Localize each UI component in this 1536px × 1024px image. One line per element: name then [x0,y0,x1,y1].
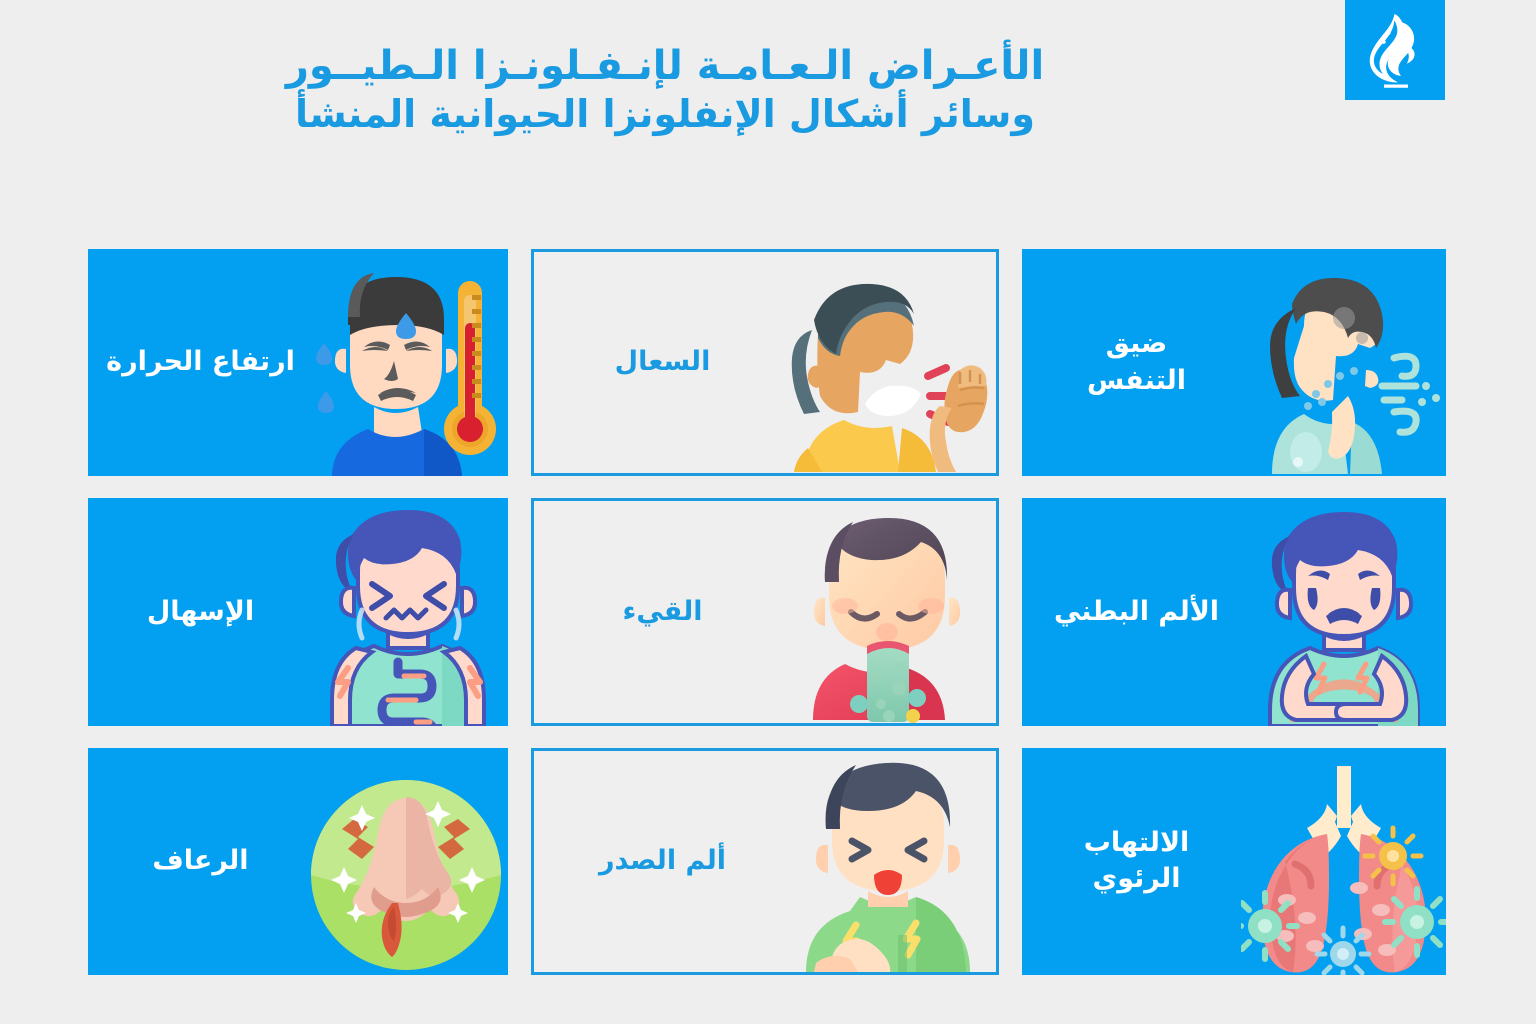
symptom-label: ألم الصدر [534,843,781,879]
symptom-label: السعال [534,344,781,380]
boy-vomiting-icon [781,501,996,722]
title-line-1: الأعـراض الـعـامـة لإنـفـلونـزا الـطيــو… [0,42,1330,91]
symptom-label-line-2: التنفس [1032,363,1241,399]
symptom-card-chest-pain[interactable]: ألم الصدر [531,748,999,975]
man-breathing-difficulty-icon [1241,249,1446,476]
symptom-label: ارتفاع الحرارة [88,344,303,380]
symptom-label: القيء [534,594,781,630]
symptom-label-line-1: السعال [544,344,781,380]
symptom-label: الإسهال [88,594,303,630]
symptom-label-line-1: الألم البطني [1032,594,1241,630]
boy-abdominal-pain-icon [1241,498,1446,725]
symptom-label: الرعاف [88,843,303,879]
symptom-card-pneumonia[interactable]: الالتهاب الرئوي [1022,748,1446,975]
symptom-label-line-1: ضيق [1032,326,1241,362]
symptom-label-line-1: القيء [544,594,781,630]
symptom-label-line-1: الرعاف [98,843,303,879]
page-title: الأعـراض الـعـامـة لإنـفـلونـزا الـطيــو… [0,42,1330,137]
al-jazeera-logo [1345,0,1445,100]
title-line-2: وسائر أشكال الإنفلونزا الحيوانية المنشأ [0,91,1330,137]
virus-particle [1317,928,1369,975]
symptom-label: ضيق التنفس [1022,326,1241,399]
symptom-label-line-1: ألم الصدر [544,843,781,879]
symptom-label: الالتهاب الرئوي [1022,825,1241,898]
virus-particle [1385,889,1446,955]
symptom-card-cough[interactable]: السعال [531,249,999,476]
symptom-card-grid: ضيق التنفس [88,249,1446,975]
symptom-card-diarrhea[interactable]: الإسهال [88,498,508,725]
man-fever-thermometer-icon [303,249,508,476]
boy-intestines-diarrhea-icon [303,498,508,725]
symptom-card-vomiting[interactable]: القيء [531,498,999,725]
boy-chest-pain-icon [781,751,996,972]
bleeding-nose-icon [303,748,508,975]
symptom-label: الألم البطني [1022,594,1241,630]
man-coughing-icon [781,252,996,473]
symptom-card-shortness-of-breath[interactable]: ضيق التنفس [1022,249,1446,476]
lungs-infection-icon [1241,748,1446,975]
symptom-card-abdominal-pain[interactable]: الألم البطني [1022,498,1446,725]
symptom-card-fever[interactable]: ارتفاع الحرارة [88,249,508,476]
symptom-label-line-1: الالتهاب [1032,825,1241,861]
symptom-label-line-2: الرئوي [1032,861,1241,897]
symptom-label-line-1: ارتفاع الحرارة [98,344,303,380]
virus-particle [1365,828,1421,884]
al-jazeera-logo-glyph [1364,11,1426,89]
symptom-card-nosebleed[interactable]: الرعاف [88,748,508,975]
symptom-label-line-1: الإسهال [98,594,303,630]
